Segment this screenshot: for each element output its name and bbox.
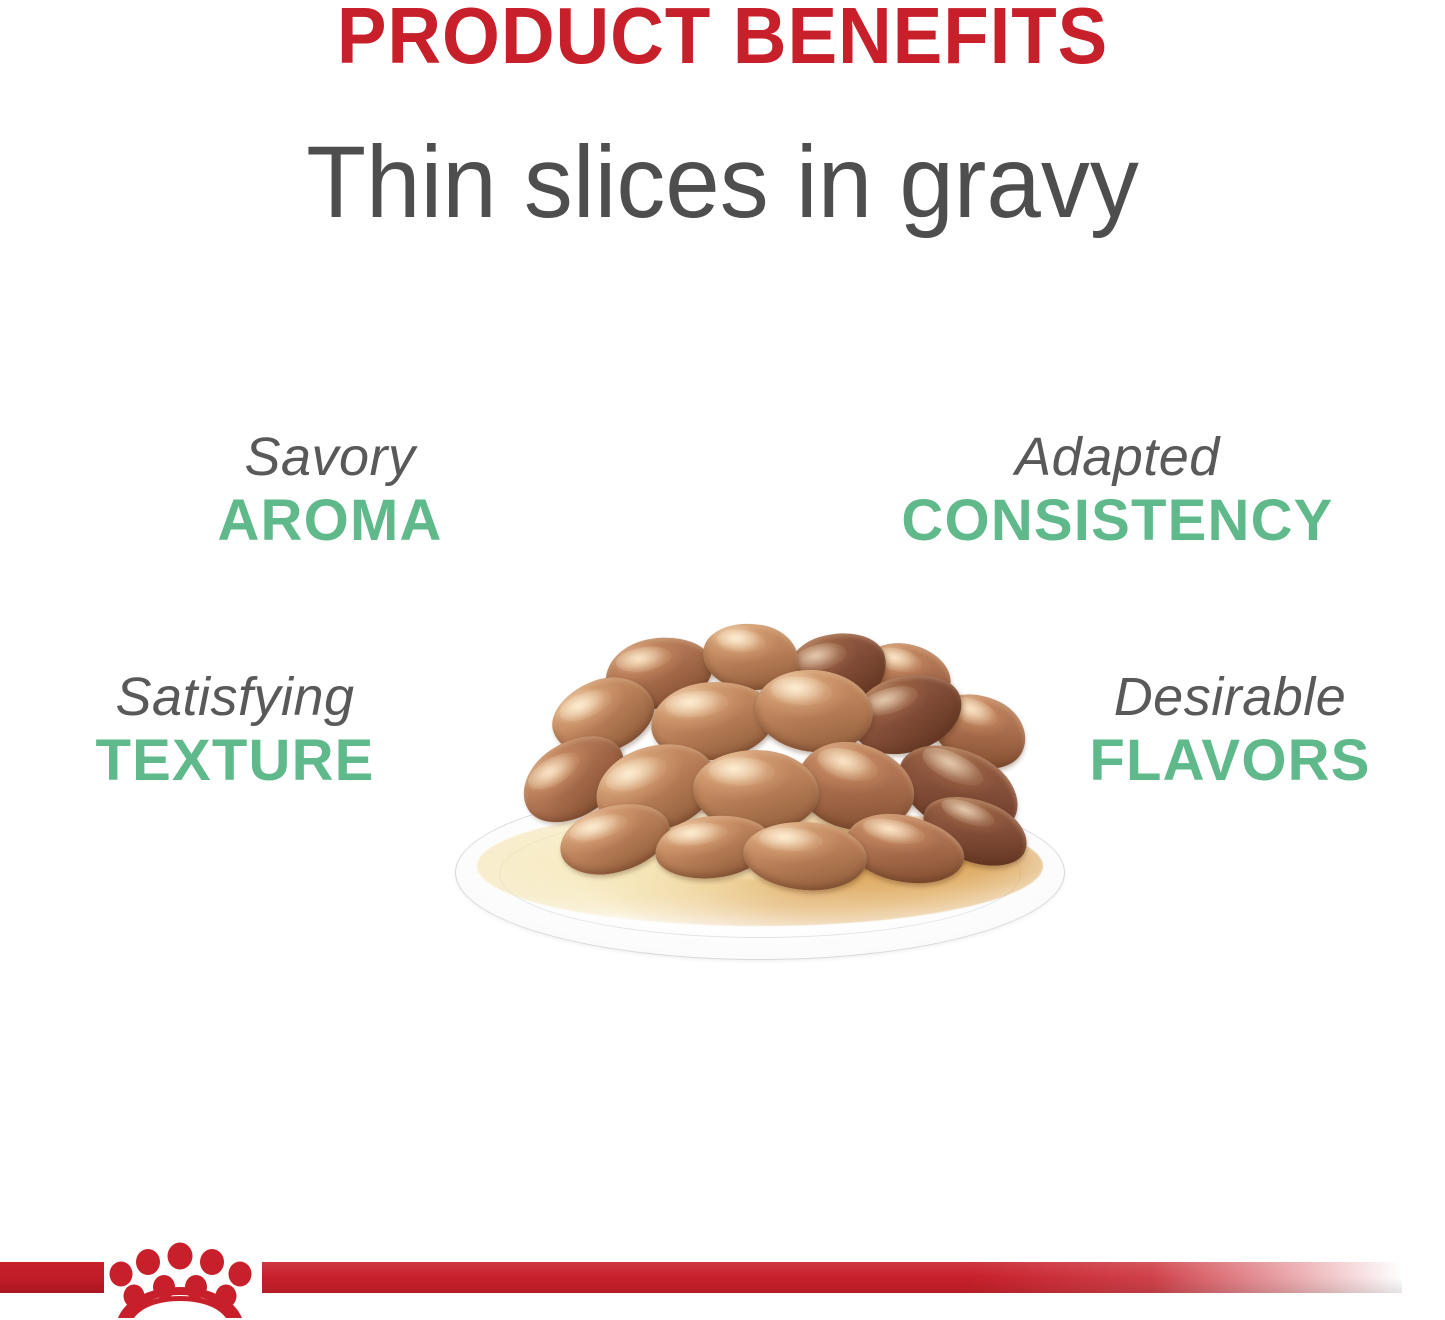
benefit-aroma-adjective: Savory [0,428,660,486]
footer [0,1262,1445,1298]
benefit-consistency-noun: CONSISTENCY [790,490,1445,552]
meat-pile [455,610,1065,910]
footer-bar-left [0,1262,104,1293]
benefit-flavors: Desirable FLAVORS [1015,668,1445,792]
benefit-flavors-adjective: Desirable [1015,668,1445,726]
page-subtitle: Thin slices in gravy [29,128,1416,236]
crown-icon [104,1240,264,1318]
footer-bar-right [262,1262,1402,1293]
benefit-flavors-noun: FLAVORS [1015,730,1445,792]
benefit-texture: Satisfying TEXTURE [20,668,450,792]
benefit-consistency: Adapted CONSISTENCY [790,428,1445,552]
benefit-consistency-adjective: Adapted [790,428,1445,486]
food-photo [455,610,1065,960]
product-benefits-infographic: PRODUCT BENEFITS Thin slices in gravy Sa… [0,0,1445,1320]
benefit-texture-adjective: Satisfying [20,668,450,726]
page-title: PRODUCT BENEFITS [51,0,1395,76]
benefit-aroma-noun: AROMA [0,490,660,552]
benefit-texture-noun: TEXTURE [20,730,450,792]
benefit-aroma: Savory AROMA [0,428,660,552]
